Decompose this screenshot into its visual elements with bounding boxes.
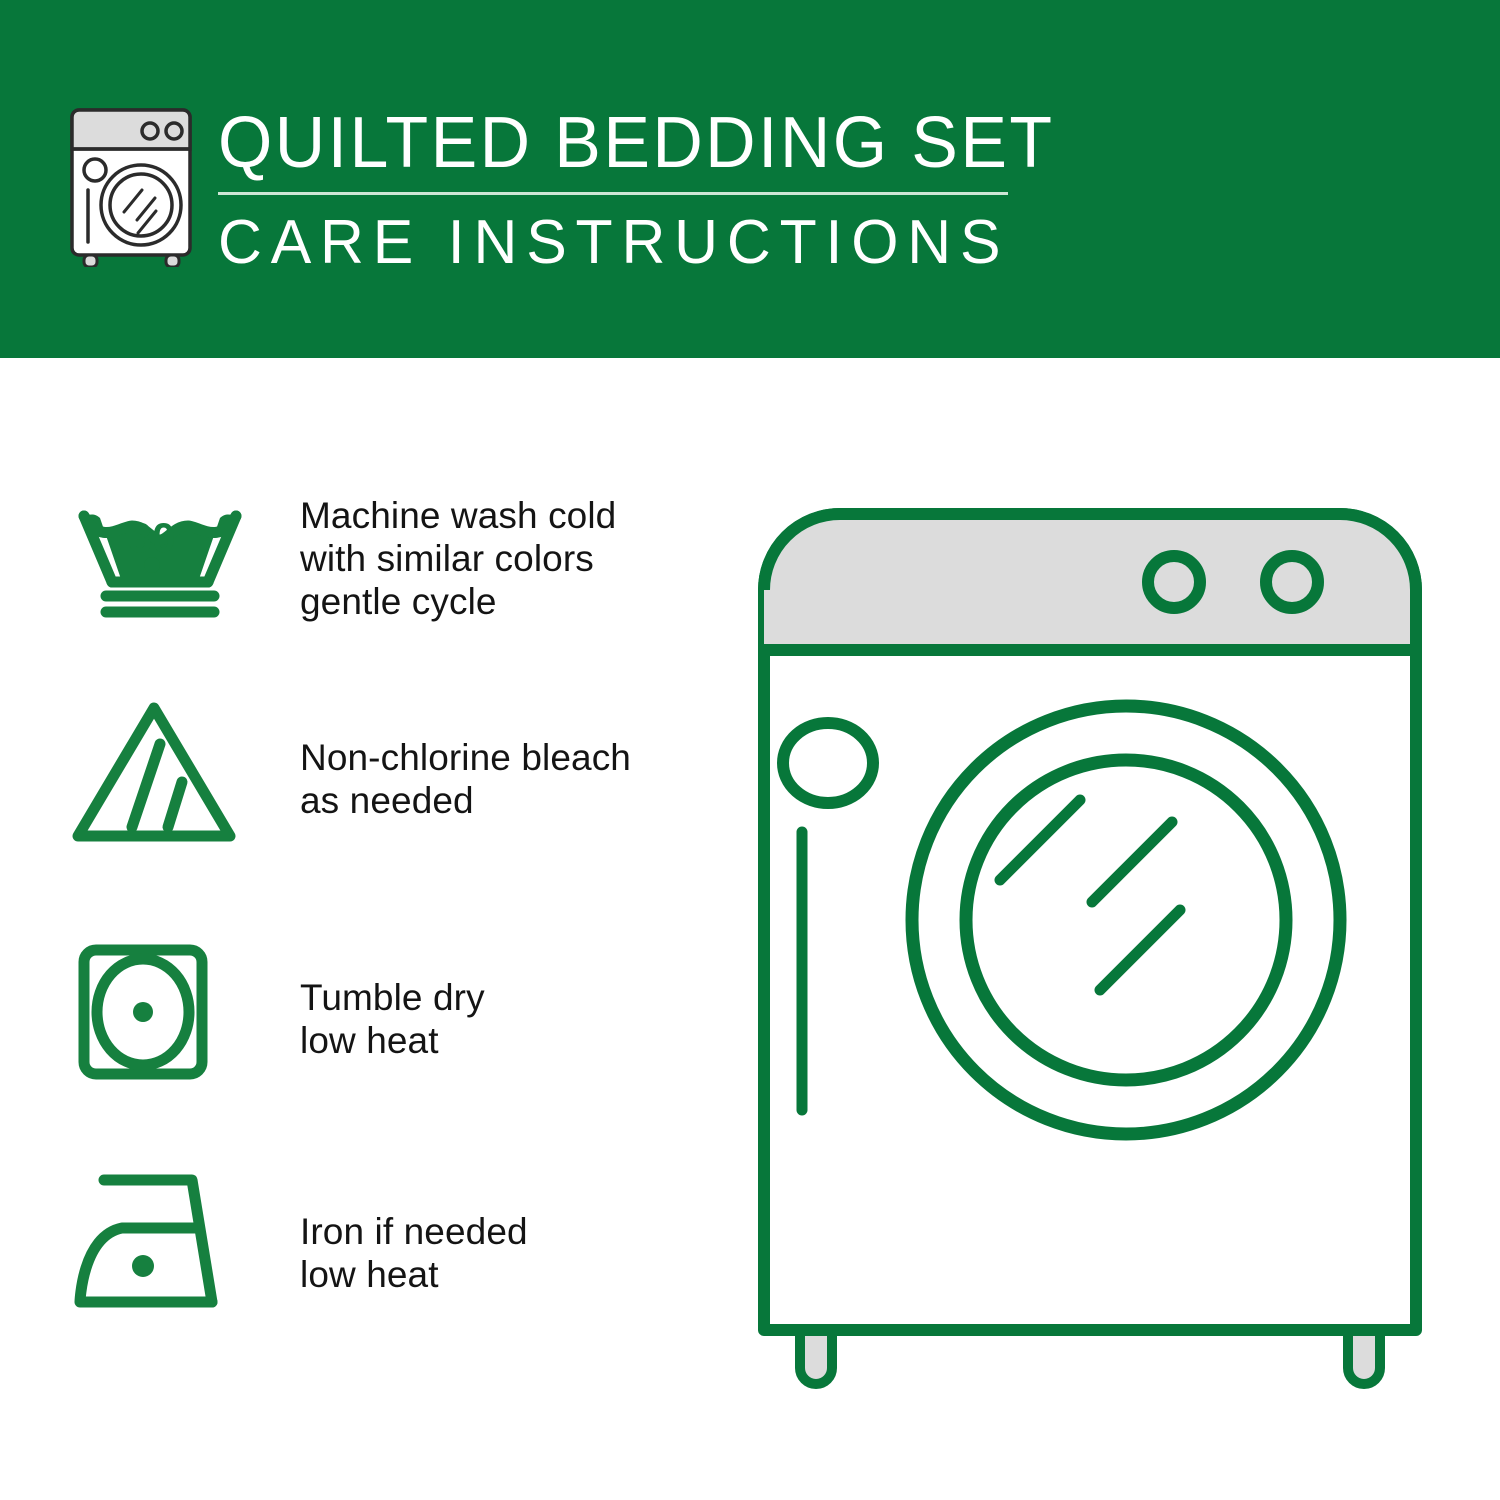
iron-low-heat-symbol	[70, 1170, 250, 1320]
non-chlorine-bleach-symbol	[70, 696, 250, 846]
care-instructions-page: QUILTED BEDDING SET CARE INSTRUCTIONS	[0, 0, 1500, 1500]
care-text-line: Non-chlorine bleach	[300, 736, 631, 779]
care-text-line: Tumble dry	[300, 976, 485, 1019]
header-title-group: QUILTED BEDDING SET CARE INSTRUCTIONS	[218, 104, 1018, 277]
machine-wash-30-gentle-symbol: 30	[70, 470, 250, 620]
care-item-iron: Iron if needed low heat	[0, 1170, 700, 1370]
tumble-dry-low-symbol	[70, 936, 250, 1086]
header-banner: QUILTED BEDDING SET CARE INSTRUCTIONS	[0, 0, 1500, 358]
care-text-line: with similar colors	[300, 537, 616, 580]
page-title: QUILTED BEDDING SET	[218, 104, 994, 182]
care-item-bleach: Non-chlorine bleach as needed	[0, 696, 700, 896]
care-text-line: gentle cycle	[300, 580, 616, 623]
care-text-line: Iron if needed	[300, 1210, 528, 1253]
care-item-bleach-text: Non-chlorine bleach as needed	[300, 736, 631, 822]
front-load-washing-machine-illustration	[740, 490, 1460, 1410]
leg-left	[800, 1328, 832, 1384]
wash-temperature-label: 30	[129, 514, 176, 561]
care-item-iron-text: Iron if needed low heat	[300, 1210, 528, 1296]
care-text-line: low heat	[300, 1019, 485, 1062]
page-subtitle: CARE INSTRUCTIONS	[218, 209, 1002, 277]
care-text-line: low heat	[300, 1253, 528, 1296]
care-text-line: Machine wash cold	[300, 494, 616, 537]
care-item-machine-wash-text: Machine wash cold with similar colors ge…	[300, 494, 616, 623]
washing-machine-icon	[62, 102, 210, 267]
care-item-tumble-dry: Tumble dry low heat	[0, 936, 700, 1136]
care-text-line: as needed	[300, 779, 631, 822]
care-item-machine-wash: 30 Machine wash cold with similar colors…	[0, 470, 700, 670]
care-item-tumble-dry-text: Tumble dry low heat	[300, 976, 485, 1062]
leg-right	[1348, 1328, 1380, 1384]
title-divider	[218, 192, 1008, 195]
